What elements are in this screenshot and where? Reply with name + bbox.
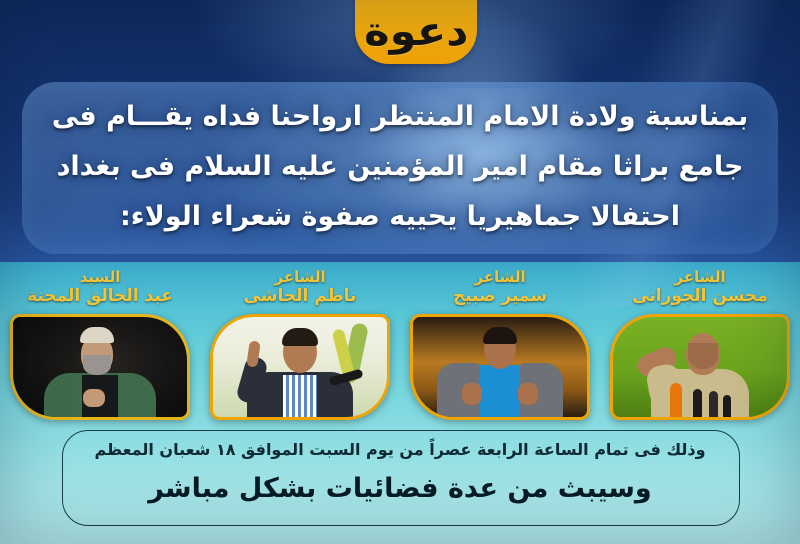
footer-datetime: وذلك فى تمام الساعة الرابعة عصراً من يوم… (62, 438, 738, 462)
speaker-role-1: السيد (0, 268, 200, 287)
headline-line-3: احتفالا جماهيريا يحييه صفوة شعراء الولاء… (30, 192, 770, 242)
dawa-logo: دعوة (355, 0, 477, 64)
speaker-role-2: الشاعر (200, 268, 400, 287)
speaker-photo-1 (0, 312, 200, 422)
photo-frame-1 (10, 314, 190, 420)
speaker-name-3: سمير صبيح (400, 287, 600, 306)
event-poster: دعوة بمناسبة ولادة الامام المنتظر ارواحن… (0, 0, 800, 544)
speaker-name-2: ناظم الحاشى (200, 287, 400, 306)
speaker-photos-row (0, 312, 800, 422)
speaker-name-4: محسن الجورانى (600, 287, 800, 306)
speaker-photo-4 (600, 312, 800, 422)
headline-line-1: بمناسبة ولادة الامام المنتظر ارواحنا فدا… (30, 92, 770, 142)
footer-broadcast: وسيبث من عدة فضائيات بشكل مباشر (62, 470, 738, 508)
headline-line-2: جامع براثا مقام امير المؤمنين عليه السلا… (30, 142, 770, 192)
speaker-photo-3 (400, 312, 600, 422)
photo-frame-4 (610, 314, 790, 420)
photo-image-mohsen-aljourani (613, 317, 787, 417)
photo-frame-3 (410, 314, 590, 420)
speaker-role-4: الشاعر (600, 268, 800, 287)
photo-image-samir-sbeih (413, 317, 587, 417)
speaker-role-3: الشاعر (400, 268, 600, 287)
speaker-name-1: عبد الخالق المحنة (0, 287, 200, 306)
speaker-photo-2 (200, 312, 400, 422)
photo-frame-2 (210, 314, 390, 420)
photo-image-nadhim-alhashi (213, 317, 387, 417)
headline: بمناسبة ولادة الامام المنتظر ارواحنا فدا… (30, 92, 770, 242)
dawa-logo-glyph: دعوة (364, 12, 468, 52)
photo-image-abdulkhaliq-almihna (13, 317, 187, 417)
